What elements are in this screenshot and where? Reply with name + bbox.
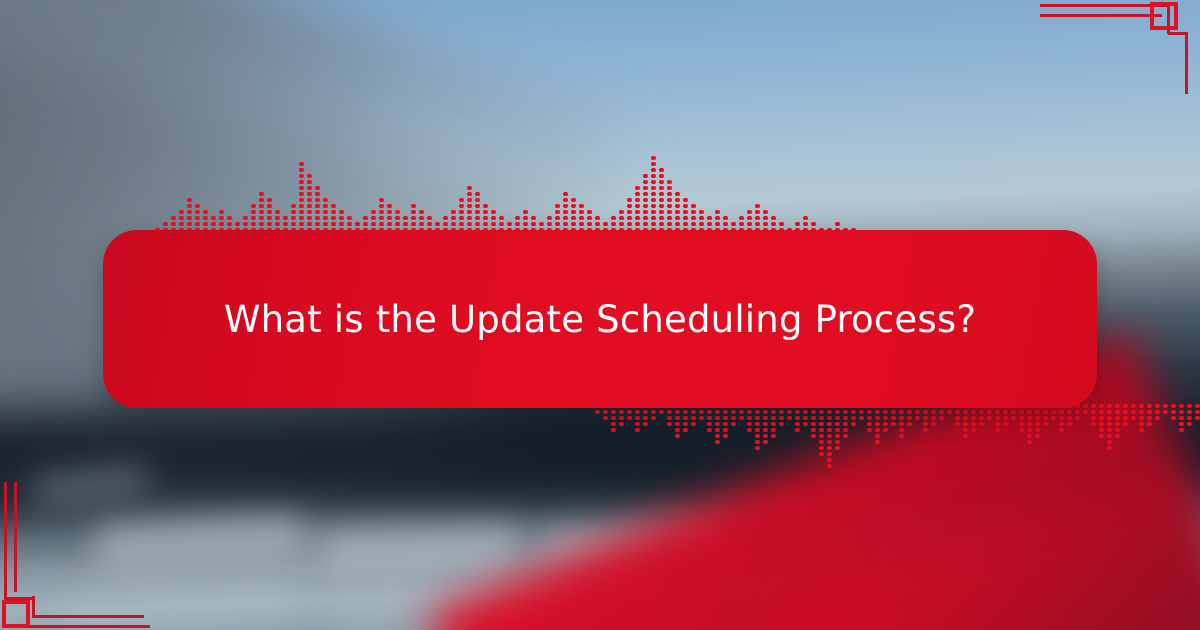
bottom-left-frame [0,480,170,630]
waveform-dot [651,174,656,178]
waveform-dot [715,440,720,444]
waveform-dot [571,204,576,208]
waveform-dot [875,422,880,426]
waveform-dot [571,216,576,220]
waveform-dot [635,428,640,432]
waveform-dot [963,410,968,414]
waveform-bar [963,404,968,438]
waveform-dot [843,410,848,414]
waveform-dot [763,222,768,226]
waveform-dot [835,446,840,450]
waveform-bar [675,404,680,438]
waveform-dot [779,410,784,414]
waveform-bar [1123,404,1128,426]
waveform-dot [803,416,808,420]
waveform-dot [531,222,536,226]
waveform-dot [323,210,328,214]
waveform-dot [1067,422,1072,426]
waveform-dot [371,216,376,220]
waveform-bar [899,404,904,438]
waveform-dot [755,222,760,226]
waveform-dot [667,410,672,414]
waveform-dot [1035,416,1040,420]
waveform-dot [707,216,712,220]
waveform-dot [947,410,952,414]
waveform-dot [403,216,408,220]
waveform-dot [755,416,760,420]
waveform-bar [563,192,568,232]
waveform-dot [1147,416,1152,420]
waveform-dot [667,216,672,220]
waveform-dot [811,422,816,426]
waveform-dot [219,222,224,226]
waveform-bar [763,404,768,444]
waveform-bar [291,204,296,232]
waveform-dot [1115,410,1120,414]
waveform-dot [899,434,904,438]
waveform-dot [771,222,776,226]
waveform-dot [747,216,752,220]
waveform-dot [171,222,176,226]
waveform-bar [579,204,584,232]
waveform-dot [1131,404,1136,408]
waveform-dot [635,198,640,202]
waveform-dot [235,222,240,226]
waveform-dot [315,222,320,226]
waveform-dot [195,216,200,220]
waveform-dot [1171,416,1176,420]
waveform-dot [763,410,768,414]
waveform-dot [1003,422,1008,426]
waveform-dot [451,216,456,220]
waveform-dot [339,222,344,226]
waveform-dot [843,416,848,420]
waveform-dot [475,210,480,214]
waveform-bar [747,210,752,232]
waveform-bar [611,404,616,432]
waveform-dot [819,446,824,450]
waveform-dot [483,222,488,226]
waveform-dot [1003,410,1008,414]
waveform-dot [699,222,704,226]
waveform-dot [1179,428,1184,432]
waveform-bar [923,404,928,432]
waveform-dot [1123,422,1128,426]
waveform-dot [1027,434,1032,438]
waveform-dot [411,204,416,208]
waveform-dot [715,210,720,214]
waveform-dot [643,174,648,178]
waveform-dot [675,222,680,226]
waveform-bar [995,404,1000,432]
waveform-bar [827,404,832,468]
waveform-dot [307,186,312,190]
waveform-dot [459,210,464,214]
waveform-dot [675,428,680,432]
waveform-dot [643,222,648,226]
waveform-dot [1131,416,1136,420]
waveform-bar [451,210,456,232]
waveform-dot [403,222,408,226]
waveform-dot [675,416,680,420]
waveform-dot [659,174,664,178]
waveform-bar [715,404,720,444]
waveform-dot [371,210,376,214]
waveform-bar [1091,404,1096,426]
waveform-dot [603,222,608,226]
waveform-dot [555,216,560,220]
waveform-dot [667,422,672,426]
waveform-dot [995,410,1000,414]
waveform-dot [379,198,384,202]
waveform-dot [683,410,688,414]
waveform-dot [475,216,480,220]
waveform-dot [299,162,304,166]
waveform-dot [891,410,896,414]
waveform-dot [1059,416,1064,420]
waveform-bar [883,404,888,432]
waveform-dot [259,222,264,226]
waveform-bar [1147,404,1152,426]
waveform-bar [811,404,816,438]
waveform-dot [1163,404,1168,408]
waveform-dot [643,204,648,208]
waveform-dot [1123,404,1128,408]
audio-waveform-bottom [595,404,1200,468]
waveform-dot [835,422,840,426]
waveform-dot [475,192,480,196]
waveform-dot [515,216,520,220]
waveform-dot [419,222,424,226]
waveform-bar [867,404,872,432]
waveform-bar [467,186,472,232]
waveform-dot [667,198,672,202]
waveform-dot [827,446,832,450]
waveform-dot [931,416,936,420]
waveform-dot [667,210,672,214]
frame-line [32,596,35,618]
waveform-dot [187,222,192,226]
waveform-dot [883,416,888,420]
waveform-dot [219,210,224,214]
waveform-dot [1043,422,1048,426]
waveform-dot [819,434,824,438]
waveform-dot [387,222,392,226]
waveform-dot [1019,428,1024,432]
waveform-dot [699,416,704,420]
waveform-dot [691,222,696,226]
waveform-dot [651,216,656,220]
waveform-dot [1099,416,1104,420]
waveform-dot [643,210,648,214]
waveform-dot [427,216,432,220]
waveform-dot [659,216,664,220]
waveform-bar [459,198,464,232]
waveform-dot [891,416,896,420]
waveform-dot [659,198,664,202]
waveform-bar [795,404,800,432]
waveform-dot [323,222,328,226]
waveform-dot [395,210,400,214]
waveform-dot [1195,404,1200,408]
waveform-dot [763,440,768,444]
waveform-dot [251,222,256,226]
waveform-dot [627,416,632,420]
waveform-dot [1139,416,1144,420]
waveform-dot [315,210,320,214]
audio-waveform-top [155,156,856,232]
waveform-dot [307,222,312,226]
waveform-dot [707,222,712,226]
waveform-dot [563,216,568,220]
waveform-dot [675,192,680,196]
waveform-dot [899,428,904,432]
waveform-dot [275,216,280,220]
waveform-bar [267,198,272,232]
waveform-dot [747,222,752,226]
waveform-dot [1195,410,1200,414]
waveform-dot [635,222,640,226]
waveform-dot [1019,416,1024,420]
waveform-dot [771,410,776,414]
waveform-dot [851,416,856,420]
waveform-dot [755,410,760,414]
waveform-bar [275,210,280,232]
waveform-dot [555,204,560,208]
waveform-dot [931,422,936,426]
waveform-dot [523,222,528,226]
waveform-dot [979,422,984,426]
waveform-dot [363,222,368,226]
waveform-dot [675,210,680,214]
waveform-dot [827,422,832,426]
waveform-dot [771,216,776,220]
waveform-dot [867,416,872,420]
waveform-dot [603,416,608,420]
waveform-dot [811,222,816,226]
waveform-dot [883,422,888,426]
waveform-bar [331,204,336,232]
waveform-bar [1195,404,1200,420]
waveform-dot [859,410,864,414]
waveform-dot [939,410,944,414]
waveform-dot [307,204,312,208]
waveform-dot [467,204,472,208]
waveform-dot [347,222,352,226]
waveform-dot [787,410,792,414]
waveform-dot [307,174,312,178]
waveform-dot [267,210,272,214]
waveform-dot [747,422,752,426]
waveform-dot [323,198,328,202]
waveform-dot [675,422,680,426]
waveform-dot [803,222,808,226]
waveform-bar [675,192,680,232]
waveform-dot [467,210,472,214]
waveform-dot [203,210,208,214]
waveform-dot [675,434,680,438]
waveform-dot [323,204,328,208]
waveform-dot [763,216,768,220]
waveform-bar [771,404,776,438]
waveform-dot [1083,410,1088,414]
waveform-dot [267,204,272,208]
waveform-dot [835,428,840,432]
waveform-bar [1155,404,1160,420]
waveform-dot [643,422,648,426]
waveform-dot [483,204,488,208]
waveform-dot [755,204,760,208]
waveform-bar [1187,404,1192,426]
frame-line [1185,32,1188,94]
waveform-dot [379,204,384,208]
waveform-dot [739,222,744,226]
waveform-dot [723,428,728,432]
waveform-dot [587,210,592,214]
waveform-dot [979,416,984,420]
waveform-dot [379,210,384,214]
waveform-dot [563,192,568,196]
waveform-dot [627,410,632,414]
waveform-dot [731,222,736,226]
waveform-dot [259,210,264,214]
waveform-dot [1115,416,1120,420]
waveform-dot [867,428,872,432]
waveform-dot [907,416,912,420]
waveform-dot [763,434,768,438]
waveform-dot [715,428,720,432]
waveform-dot [771,422,776,426]
waveform-dot [611,416,616,420]
waveform-dot [1147,404,1152,408]
waveform-dot [987,416,992,420]
waveform-dot [307,180,312,184]
waveform-dot [195,204,200,208]
waveform-dot [827,464,832,468]
waveform-bar [491,210,496,232]
waveform-dot [219,216,224,220]
waveform-dot [163,222,168,226]
waveform-dot [731,416,736,420]
waveform-dot [603,410,608,414]
waveform-bar [1019,404,1024,432]
waveform-bar [971,404,976,432]
waveform-dot [667,192,672,196]
waveform-dot [811,428,816,432]
waveform-dot [267,198,272,202]
waveform-dot [579,204,584,208]
waveform-dot [1107,404,1112,408]
waveform-dot [171,216,176,220]
waveform-dot [1107,446,1112,450]
waveform-dot [595,222,600,226]
waveform-dot [291,216,296,220]
waveform-dot [643,410,648,414]
waveform-dot [547,222,552,226]
waveform-dot [299,204,304,208]
waveform-dot [539,222,544,226]
waveform-dot [755,422,760,426]
waveform-dot [987,410,992,414]
waveform-dot [939,416,944,420]
waveform-dot [643,416,648,420]
waveform-dot [419,216,424,220]
waveform-dot [579,210,584,214]
waveform-dot [923,410,928,414]
waveform-dot [259,192,264,196]
waveform-dot [563,204,568,208]
waveform-dot [611,216,616,220]
waveform-dot [763,422,768,426]
waveform-dot [507,222,512,226]
waveform-dot [331,222,336,226]
waveform-dot [1139,422,1144,426]
waveform-bar [371,210,376,232]
waveform-dot [667,222,672,226]
waveform-dot [491,216,496,220]
waveform-bar [219,210,224,232]
waveform-dot [691,204,696,208]
waveform-dot [1027,422,1032,426]
waveform-bar [707,404,712,432]
waveform-dot [803,216,808,220]
waveform-dot [1179,416,1184,420]
waveform-bar [1115,404,1120,438]
waveform-dot [715,434,720,438]
waveform-dot [643,216,648,220]
waveform-dot [419,210,424,214]
waveform-dot [867,410,872,414]
waveform-dot [331,210,336,214]
waveform-dot [299,180,304,184]
waveform-bar [339,210,344,232]
waveform-dot [747,428,752,432]
waveform-dot [195,222,200,226]
waveform-dot [259,216,264,220]
waveform-dot [571,210,576,214]
waveform-dot [707,428,712,432]
waveform-bar [691,204,696,232]
waveform-dot [283,222,288,226]
waveform-bar [635,404,640,432]
waveform-bar [843,404,848,438]
waveform-bar [683,198,688,232]
waveform-dot [923,416,928,420]
waveform-dot [619,422,624,426]
waveform-dot [971,428,976,432]
waveform-dot [563,222,568,226]
waveform-dot [339,216,344,220]
waveform-dot [707,410,712,414]
waveform-dot [643,180,648,184]
waveform-dot [483,216,488,220]
waveform-dot [755,428,760,432]
waveform-dot [683,216,688,220]
waveform-dot [387,216,392,220]
waveform-dot [827,452,832,456]
waveform-bar [259,192,264,232]
waveform-bar [203,210,208,232]
waveform-dot [843,434,848,438]
waveform-dot [227,216,232,220]
waveform-dot [731,422,736,426]
waveform-dot [827,434,832,438]
waveform-dot [643,198,648,202]
waveform-dot [675,198,680,202]
waveform-dot [299,210,304,214]
waveform-dot [619,216,624,220]
waveform-dot [971,416,976,420]
